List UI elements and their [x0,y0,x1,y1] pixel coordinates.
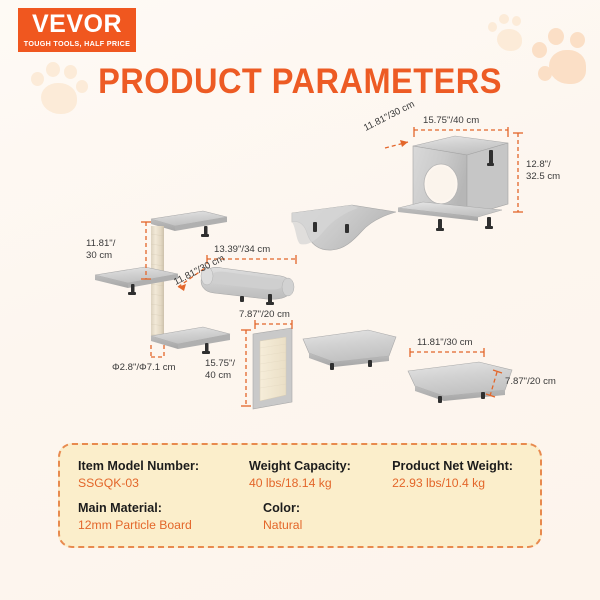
spec-row-1: Item Model Number: SSGQK-03 Weight Capac… [78,458,540,491]
spec-product-net-weight: Product Net Weight: 22.93 lbs/10.4 kg [392,458,540,491]
spec-label: Item Model Number: [78,458,249,474]
spec-color: Color: Natural [263,500,418,533]
specifications-box: Item Model Number: SSGQK-03 Weight Capac… [58,443,542,548]
spec-main-material: Main Material: 12mm Particle Board [78,500,263,533]
dimension-scratcher-width: 7.87"/20 cm [239,309,290,321]
spec-value: SSGQK-03 [78,475,249,491]
dimension-post-shelf-gap-line2: 30 cm [86,250,115,262]
dimension-post-shelf-gap: 11.81"/ 30 cm [86,238,115,262]
part-cat-bed [201,267,294,305]
dimension-scratcher-height-line1: 15.75"/ [205,358,235,370]
spec-label: Weight Capacity: [249,458,392,474]
dimension-shelf-width: 11.81"/30 cm [417,337,473,349]
dimension-post-diameter: Φ2.8"/Φ7.1 cm [112,362,176,374]
spec-item-model-number: Item Model Number: SSGQK-03 [78,458,249,491]
part-wall-shelf-right [408,362,512,403]
spec-label: Color: [263,500,418,516]
part-scratching-board [253,328,292,409]
spec-value: 40 lbs/18.14 kg [249,475,392,491]
spec-weight-capacity: Weight Capacity: 40 lbs/18.14 kg [249,458,392,491]
dimension-scratcher-height-line2: 40 cm [205,370,235,382]
spec-value: 22.93 lbs/10.4 kg [392,475,540,491]
spec-label: Main Material: [78,500,263,516]
dimension-condo-height: 12.8"/ 32.5 cm [526,159,560,183]
spec-value: Natural [263,517,418,533]
spec-value: 12mm Particle Board [78,517,263,533]
dimension-post-shelf-gap-line1: 11.81"/ [86,238,115,250]
spec-label: Product Net Weight: [392,458,540,474]
dimension-condo-width: 15.75"/40 cm [423,115,479,127]
dimension-scratcher-height: 15.75"/ 40 cm [205,358,235,382]
part-wall-shelf-middle [303,330,396,370]
part-cat-condo [398,136,508,221]
dimension-condo-height-line1: 12.8"/ [526,159,560,171]
spec-row-2: Main Material: 12mm Particle Board Color… [78,500,540,533]
dimension-shelf-depth: 7.87"/20 cm [505,376,556,388]
dimension-bed-width: 13.39"/34 cm [214,244,270,256]
dimension-condo-height-line2: 32.5 cm [526,171,560,183]
product-parameters-page: VEVOR TOUGH TOOLS, HALF PRICE PRODUCT PA… [0,0,600,600]
